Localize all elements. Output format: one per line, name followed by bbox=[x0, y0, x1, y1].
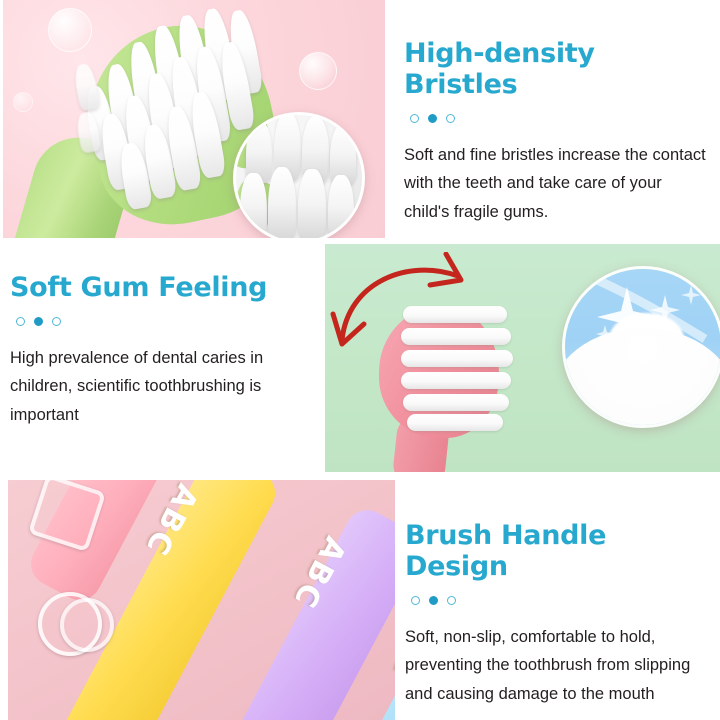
dot-indicator bbox=[411, 596, 715, 605]
dot-filled-icon bbox=[34, 317, 43, 326]
page-title: Brush Handle Design bbox=[405, 520, 715, 582]
dot-indicator bbox=[410, 114, 710, 123]
dot-empty-icon bbox=[410, 114, 419, 123]
bristle-bands-group bbox=[401, 302, 517, 434]
soap-bubble-icon bbox=[299, 52, 337, 90]
section-body-text: Soft and fine bristles increase the cont… bbox=[404, 141, 710, 226]
image-brush-handle-design: ABC ABC ABC bbox=[8, 480, 395, 720]
dot-filled-icon bbox=[428, 114, 437, 123]
soap-bubble-icon bbox=[13, 92, 33, 112]
hanging-ring-icon bbox=[60, 598, 114, 652]
dot-indicator bbox=[16, 317, 322, 326]
image-high-density-bristles bbox=[3, 0, 385, 238]
page-title: Soft Gum Feeling bbox=[10, 272, 322, 303]
handle-letters-purple: ABC bbox=[285, 531, 352, 616]
section-brush-handle-design: Brush Handle Design Soft, non-slip, comf… bbox=[405, 520, 715, 708]
dot-empty-icon bbox=[447, 596, 456, 605]
dot-empty-icon bbox=[52, 317, 61, 326]
page-title: High-density Bristles bbox=[404, 38, 710, 100]
section-body-text: Soft, non-slip, comfortable to hold, pre… bbox=[405, 623, 715, 708]
product-feature-infographic: High-density Bristles Soft and fine bris… bbox=[0, 0, 720, 720]
dot-empty-icon bbox=[446, 114, 455, 123]
section-body-text: High prevalence of dental caries in chil… bbox=[10, 344, 322, 429]
dot-filled-icon bbox=[429, 596, 438, 605]
image-soft-gum-feeling bbox=[325, 244, 720, 472]
foam-mass bbox=[562, 328, 720, 428]
dot-empty-icon bbox=[411, 596, 420, 605]
magnified-bristles-circle bbox=[233, 112, 365, 238]
section-high-density-bristles: High-density Bristles Soft and fine bris… bbox=[404, 38, 710, 226]
section-soft-gum-feeling: Soft Gum Feeling High prevalence of dent… bbox=[10, 272, 322, 429]
dot-empty-icon bbox=[16, 317, 25, 326]
clean-foam-circle bbox=[562, 266, 720, 428]
